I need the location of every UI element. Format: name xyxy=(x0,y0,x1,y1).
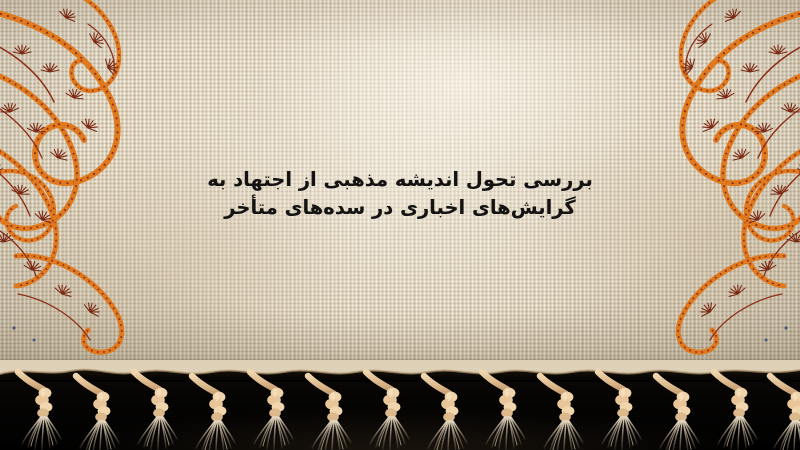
title-line-1: بررسی تحول اندیشه مذهبی از اجتهاد به xyxy=(0,166,800,194)
title-card-canvas: بررسی تحول اندیشه مذهبی از اجتهاد به گرا… xyxy=(0,0,800,450)
title-line-2: گرایش‌های اخباری در سده‌های متأخر xyxy=(0,194,800,222)
knotted-tassel-fringe xyxy=(0,360,800,450)
title-block: بررسی تحول اندیشه مذهبی از اجتهاد به گرا… xyxy=(0,166,800,221)
